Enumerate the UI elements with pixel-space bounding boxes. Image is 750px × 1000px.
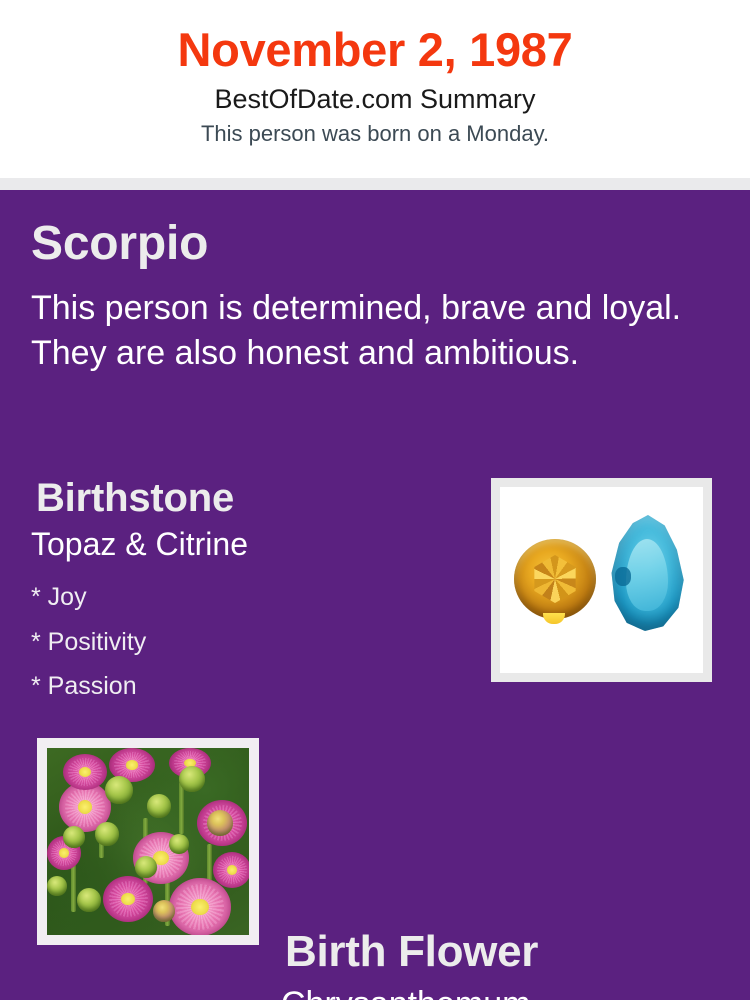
flower-bud: [179, 766, 205, 792]
flower-stem: [179, 782, 184, 834]
card-header: November 2, 1987 BestOfDate.com Summary …: [0, 0, 750, 178]
birthstone-traits-list: * Joy * Positivity * Passion: [31, 575, 146, 709]
birthstone-heading: Birthstone: [36, 476, 234, 520]
flower-bud: [63, 826, 85, 848]
chrysanthemum-bloom: [213, 852, 249, 888]
bestofdate-summary-card: November 2, 1987 BestOfDate.com Summary …: [0, 0, 750, 1000]
zodiac-description: This person is determined, brave and loy…: [31, 286, 701, 375]
list-item: * Passion: [31, 664, 146, 709]
birth-flower-heading: Birth Flower: [285, 928, 538, 976]
birthstone-name: Topaz & Citrine: [31, 527, 248, 562]
birthstone-photo: [500, 487, 703, 673]
flower-bud: [77, 888, 101, 912]
birthstone-image-frame: [491, 478, 712, 682]
chrysanthemum-bloom: [103, 876, 153, 922]
page-title-date: November 2, 1987: [0, 0, 750, 77]
born-weekday-text: This person was born on a Monday.: [0, 115, 750, 146]
birth-flower-name: Chrysanthemum: [281, 986, 530, 1000]
chrysanthemum-bloom: [169, 878, 231, 935]
flower-bud: [47, 876, 67, 896]
flower-bud: [207, 810, 233, 836]
header-divider: [0, 178, 750, 190]
flower-bud: [169, 834, 189, 854]
flower-bud: [135, 856, 157, 878]
birth-flower-image-frame: [37, 738, 259, 945]
list-item: * Positivity: [31, 620, 146, 665]
list-item: * Joy: [31, 575, 146, 620]
chrysanthemum-bloom: [63, 754, 107, 790]
flower-bud: [95, 822, 119, 846]
birth-flower-photo: [47, 748, 249, 935]
zodiac-sign-title: Scorpio: [31, 218, 208, 271]
flower-bud: [147, 794, 171, 818]
flower-bud: [105, 776, 133, 804]
citrine-gemstone-icon: [514, 539, 596, 619]
site-summary-label: BestOfDate.com Summary: [0, 77, 750, 115]
flower-bud: [153, 900, 175, 922]
topaz-gemstone-icon: [610, 515, 686, 631]
